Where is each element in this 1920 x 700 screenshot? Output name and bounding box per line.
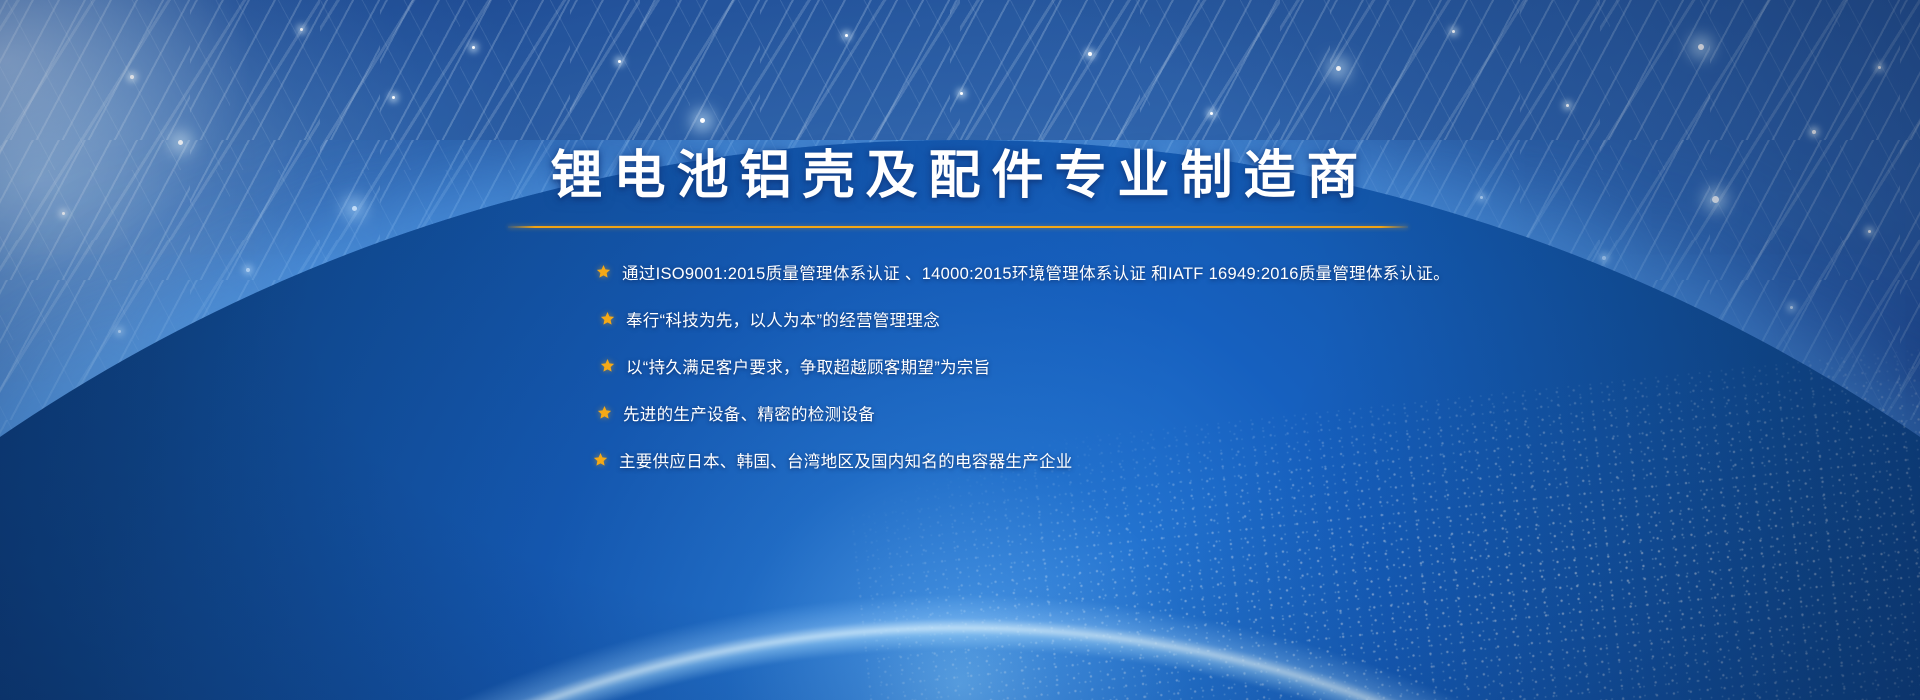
gold-divider — [508, 226, 1408, 228]
banner-headline: 锂电池铝壳及配件专业制造商 — [0, 150, 1920, 202]
list-item: 主要供应日本、韩国、台湾地区及国内知名的电容器生产企业 — [593, 436, 1696, 483]
list-item: 奉行“科技为先，以人为本”的经营管理理念 — [600, 295, 1696, 342]
star-icon — [600, 311, 615, 326]
star-icon — [600, 358, 615, 373]
list-item-label: 奉行“科技为先，以人为本”的经营管理理念 — [626, 307, 940, 331]
list-item: 以“持久满足客户要求，争取超越顾客期望”为宗旨 — [600, 342, 1696, 389]
star-icon — [597, 405, 612, 420]
banner-content: 锂电池铝壳及配件专业制造商 通过ISO9001:2015质量管理体系认证 、14… — [0, 0, 1920, 700]
list-item-label: 以“持久满足客户要求，争取超越顾客期望”为宗旨 — [626, 354, 990, 378]
star-icon — [596, 264, 611, 279]
list-item-label: 主要供应日本、韩国、台湾地区及国内知名的电容器生产企业 — [619, 448, 1073, 472]
list-item: 先进的生产设备、精密的检测设备 — [597, 389, 1696, 436]
hero-banner: 锂电池铝壳及配件专业制造商 通过ISO9001:2015质量管理体系认证 、14… — [0, 0, 1920, 700]
list-item-label: 通过ISO9001:2015质量管理体系认证 、14000:2015环境管理体系… — [622, 260, 1450, 284]
list-item: 通过ISO9001:2015质量管理体系认证 、14000:2015环境管理体系… — [596, 248, 1696, 295]
feature-list: 通过ISO9001:2015质量管理体系认证 、14000:2015环境管理体系… — [596, 248, 1696, 483]
list-item-label: 先进的生产设备、精密的检测设备 — [623, 401, 875, 425]
star-icon — [593, 452, 608, 467]
